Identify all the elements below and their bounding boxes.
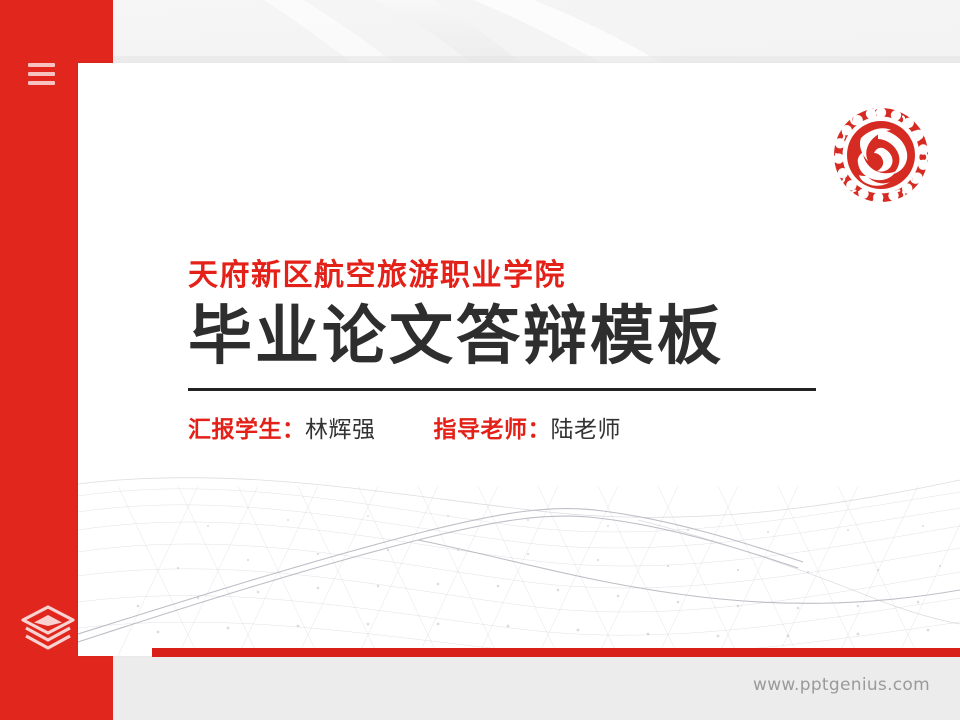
- hamburger-menu-icon[interactable]: [28, 63, 55, 85]
- advisor-label: 指导老师: [434, 417, 528, 445]
- school-name: 天府新区航空旅游职业学院: [188, 259, 888, 292]
- stacked-layers-icon[interactable]: [18, 602, 78, 654]
- bottom-red-accent-bar: [152, 648, 960, 657]
- student-name: 林辉强: [305, 417, 376, 445]
- hamburger-bar-1: [28, 63, 55, 67]
- advisor-separator: ：: [528, 417, 551, 445]
- page-title: 毕业论文答辩模板: [188, 302, 888, 374]
- dotted-mesh-wave-decoration: [78, 456, 960, 656]
- hamburger-bar-2: [28, 72, 55, 76]
- slide-content-card: 天府新区航空旅游职业学院 毕业论文答辩模板 汇报学生 ： 林辉强 指导老师 ： …: [78, 63, 960, 656]
- advisor-name: 陆老师: [551, 417, 622, 445]
- student-credit: 汇报学生 ： 林辉强: [188, 417, 376, 445]
- phoenix-circle-emblem-icon: [820, 105, 942, 205]
- hamburger-bar-3: [28, 81, 55, 85]
- title-text-block: 天府新区航空旅游职业学院 毕业论文答辩模板 汇报学生 ： 林辉强 指导老师 ： …: [188, 259, 888, 444]
- student-separator: ：: [282, 417, 305, 445]
- title-divider: [188, 388, 816, 391]
- presentation-slide: 天府新区航空旅游职业学院 毕业论文答辩模板 汇报学生 ： 林辉强 指导老师 ： …: [0, 0, 960, 720]
- student-label: 汇报学生: [188, 417, 282, 445]
- advisor-credit: 指导老师 ： 陆老师: [434, 417, 622, 445]
- watermark-url: www.pptgenius.com: [753, 675, 930, 695]
- credits-row: 汇报学生 ： 林辉强 指导老师 ： 陆老师: [188, 417, 888, 445]
